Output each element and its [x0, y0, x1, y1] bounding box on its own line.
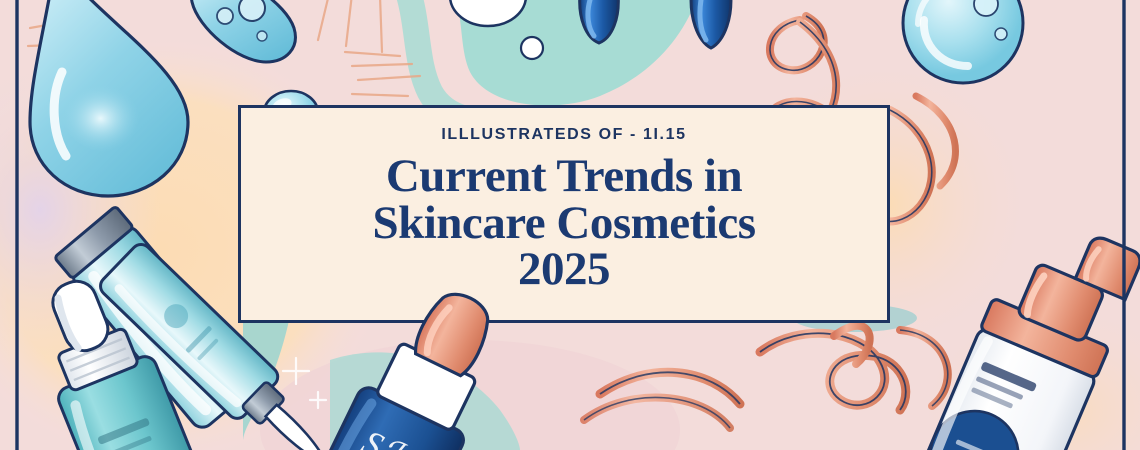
poster-canvas: ILLLUSTRATEDS OF - 1I.15 Current Trends … — [0, 0, 1140, 450]
outer-frame — [0, 0, 1140, 450]
